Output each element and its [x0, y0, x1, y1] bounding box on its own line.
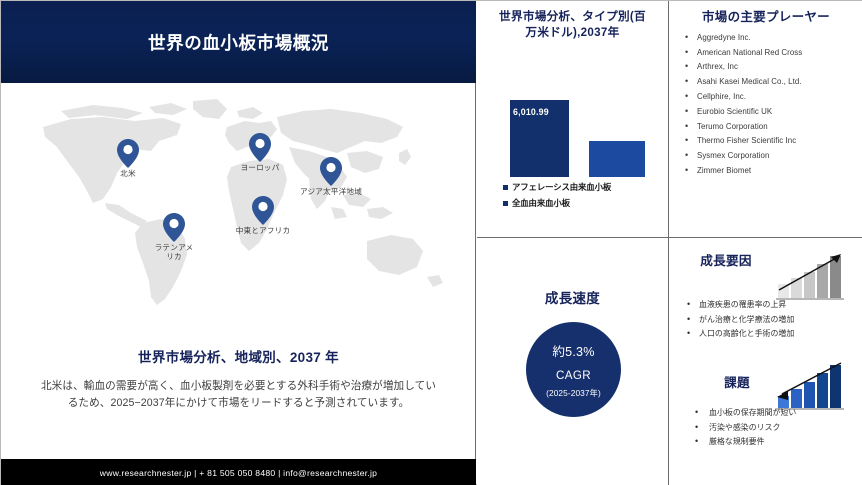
growth-drivers-title: 成長要因 — [683, 252, 769, 270]
ascending-bar-chart-up-arrow-icon — [774, 250, 846, 302]
infographic-root: 世界の血小板市場概況 — [0, 0, 862, 485]
key-players-cell: 市場の主要プレーヤー Aggredyne Inc. American Natio… — [669, 1, 862, 238]
bar-chart-plot: 6,010.99 — [477, 99, 669, 177]
list-item: Cellphire, Inc. — [683, 93, 862, 108]
map-marker-label: ヨーロッパ — [241, 163, 280, 172]
legend-swatch-icon — [503, 201, 508, 206]
key-players-list: Aggredyne Inc. American National Red Cro… — [683, 34, 862, 182]
challenges-list: 血小板の保存期間が短い 汚染や感染のリスク 厳格な規制要件 — [683, 409, 861, 453]
list-item: American National Red Cross — [683, 49, 862, 64]
map-marker-latin-america[interactable]: ラテンアメリカ — [151, 213, 197, 262]
list-item: がん治療と化学療法の増加 — [679, 316, 857, 331]
header-band: 世界の血小板市場概況 — [1, 1, 476, 83]
list-item: 厳格な規制要件 — [683, 438, 861, 453]
legend-item-whole-blood: 全血由来血小板 — [503, 197, 663, 209]
list-item: 人口の高齢化と手術の増加 — [679, 330, 857, 345]
list-item: 汚染や感染のリスク — [683, 424, 861, 439]
right-panel-grid: 世界市場分析、タイプ別(百万米ドル),2037年 6,010.99 アフェレーシ… — [477, 1, 862, 485]
map-marker-label: アジア太平洋地域 — [300, 187, 362, 196]
cagr-period: (2025-2037年) — [546, 387, 601, 399]
map-pin-icon — [320, 157, 342, 186]
region-analysis-block: 世界市場分析、地域別、2037 年 北米は、輸血の需要が高く、血小板製剤を必要と… — [1, 346, 476, 412]
map-marker-europe[interactable]: ヨーロッパ — [225, 133, 295, 172]
region-analysis-title: 世界市場分析、地域別、2037 年 — [37, 346, 440, 366]
legend-swatch-icon — [503, 185, 508, 190]
challenges-title: 課題 — [697, 374, 777, 392]
bar-whole-blood-platelets — [589, 141, 645, 177]
list-item: Thermo Fisher Scientific Inc — [683, 137, 862, 152]
map-pin-icon — [117, 139, 139, 168]
list-item: Arthrex, Inc — [683, 63, 862, 78]
list-item: 血液疾患の罹患率の上昇 — [679, 301, 857, 316]
chart-legend: アフェレーシス由来血小板 全血由来血小板 — [503, 181, 663, 213]
map-pin-icon — [252, 196, 274, 225]
growth-rate-title: 成長速度 — [477, 287, 668, 307]
legend-item-apheresis: アフェレーシス由来血小板 — [503, 181, 663, 193]
cagr-value: 約5.3% — [552, 341, 594, 360]
map-pin-icon — [163, 213, 185, 242]
growth-rate-cell: 成長速度 約5.3% CAGR (2025-2037年) — [477, 238, 669, 485]
map-marker-label: ラテンアメリカ — [151, 243, 197, 262]
map-marker-asia-pacific[interactable]: アジア太平洋地域 — [296, 157, 366, 196]
key-players-title: 市場の主要プレーヤー — [691, 9, 841, 27]
list-item: Sysmex Corporation — [683, 152, 862, 167]
footer-contact-text: www.researchnester.jp | + 81 505 050 848… — [100, 468, 377, 478]
map-marker-label: 北米 — [120, 169, 136, 178]
region-analysis-description: 北米は、輸血の需要が高く、血小板製剤を必要とする外科手術や治療が増加しているため… — [37, 378, 440, 412]
list-item: Terumo Corporation — [683, 123, 862, 138]
map-pin-icon — [249, 133, 271, 162]
footer-bar: www.researchnester.jp | + 81 505 050 848… — [1, 459, 476, 485]
chart-title: 世界市場分析、タイプ別(百万米ドル),2037年 — [495, 9, 650, 42]
world-map-area: 北米 ヨーロッパ アジア太平洋地域 — [1, 83, 476, 321]
list-item: Asahi Kasei Medical Co., Ltd. — [683, 78, 862, 93]
left-panel: 世界の血小板市場概況 — [1, 1, 476, 485]
cagr-label: CAGR — [556, 369, 591, 382]
legend-label: 全血由来血小板 — [512, 197, 570, 209]
map-marker-label: 中東とアフリカ — [236, 226, 291, 235]
map-marker-north-america[interactable]: 北米 — [93, 139, 163, 178]
market-type-chart-cell: 世界市場分析、タイプ別(百万米ドル),2037年 6,010.99 アフェレーシ… — [477, 1, 669, 238]
page-title: 世界の血小板市場概況 — [148, 30, 329, 55]
drivers-challenges-cell: 成長要因 血液疾患の罹患率の上昇 がん治療と化学療法の増加 人口の高齢化と手術の… — [669, 238, 862, 485]
ascending-bar-chart-down-arrow-icon — [774, 360, 846, 412]
list-item: Aggredyne Inc. — [683, 34, 862, 49]
map-marker-middle-east-africa[interactable]: 中東とアフリカ — [228, 196, 298, 235]
growth-drivers-list: 血液疾患の罹患率の上昇 がん治療と化学療法の増加 人口の高齢化と手術の増加 — [679, 301, 857, 345]
list-item: 血小板の保存期間が短い — [683, 409, 861, 424]
legend-label: アフェレーシス由来血小板 — [512, 181, 611, 193]
cagr-circle: 約5.3% CAGR (2025-2037年) — [526, 322, 621, 417]
list-item: Zimmer Biomet — [683, 167, 862, 182]
bar-value-label: 6,010.99 — [513, 107, 549, 117]
list-item: Eurobio Scientific UK — [683, 108, 862, 123]
